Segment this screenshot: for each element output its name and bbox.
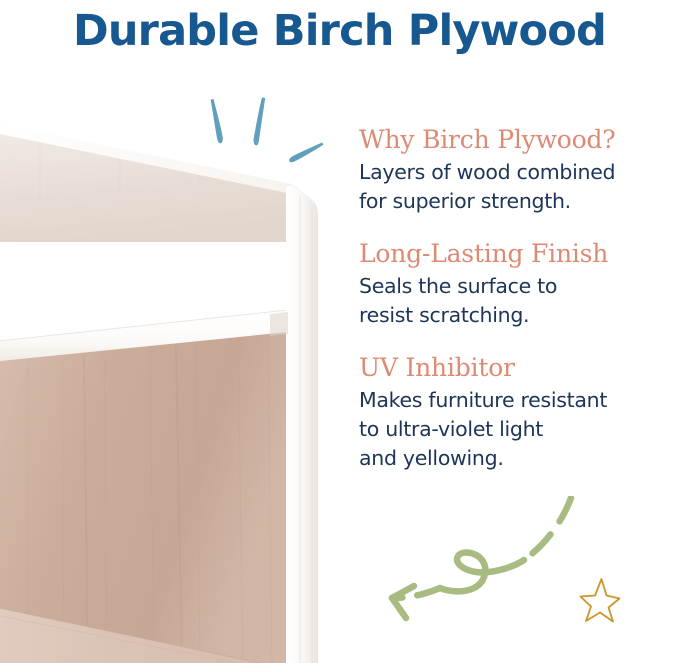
product-photo xyxy=(0,110,340,663)
feature-body: Layers of wood combined for superior str… xyxy=(359,158,671,216)
feature-block-why-birch-plywood: Why Birch Plywood? Layers of wood combin… xyxy=(359,124,671,216)
feature-body-line: to ultra-violet light xyxy=(359,415,671,444)
feature-body-line: for superior strength. xyxy=(359,187,671,216)
infographic-canvas: Durable Birch Plywood xyxy=(0,0,679,663)
feature-body-line: resist scratching. xyxy=(359,301,671,330)
feature-body-line: and yellowing. xyxy=(359,444,671,473)
motion-strokes-decoration xyxy=(196,96,326,168)
feature-block-uv-inhibitor: UV Inhibitor Makes furniture resistant t… xyxy=(359,352,671,473)
birch-plywood-cabinet-illustration xyxy=(0,110,340,663)
page-title: Durable Birch Plywood xyxy=(0,2,679,60)
feature-body: Makes furniture resistant to ultra-viole… xyxy=(359,386,671,473)
feature-heading: UV Inhibitor xyxy=(359,352,671,384)
star-outline-decoration xyxy=(578,576,622,624)
feature-block-long-lasting-finish: Long-Lasting Finish Seals the surface to… xyxy=(359,238,671,330)
feature-heading: Long-Lasting Finish xyxy=(359,238,671,270)
motion-strokes-icon xyxy=(196,96,326,168)
feature-heading: Why Birch Plywood? xyxy=(359,124,671,156)
feature-body-line: Makes furniture resistant xyxy=(359,386,671,415)
feature-body: Seals the surface to resist scratching. xyxy=(359,272,671,330)
feature-body-line: Layers of wood combined xyxy=(359,158,671,187)
star-icon xyxy=(578,576,622,624)
feature-list: Why Birch Plywood? Layers of wood combin… xyxy=(359,124,671,473)
feature-body-line: Seals the surface to xyxy=(359,272,671,301)
